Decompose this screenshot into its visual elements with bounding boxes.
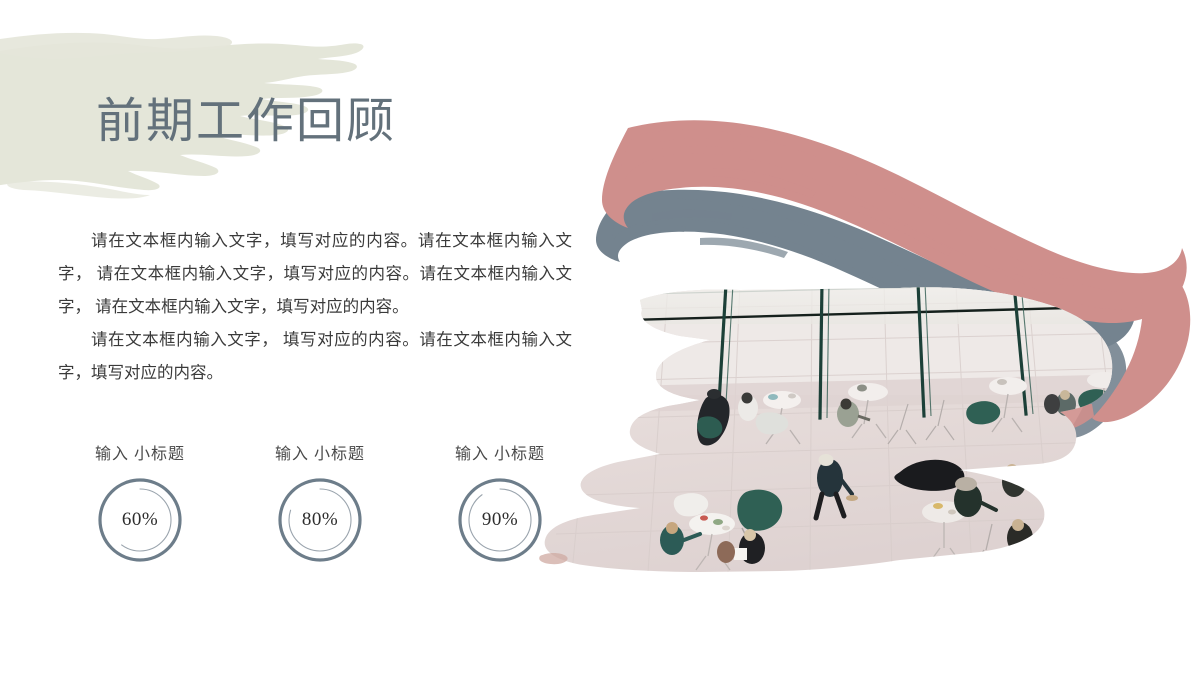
- stat-label-3: 输入 小标题: [420, 440, 580, 464]
- slide-canvas: 前期工作回顾 请在文本框内输入文字，填写对应的内容。请在文本框内输入文字， 请在…: [0, 0, 1200, 675]
- stat-item-2: 输入 小标题 80%: [240, 440, 400, 564]
- page-title: 前期工作回顾: [96, 98, 396, 146]
- gauge-value-2: 80%: [276, 476, 364, 564]
- body-paragraph-1: 请在文本框内输入文字，填写对应的内容。请在文本框内输入文字， 请在文本框内输入文…: [58, 224, 572, 323]
- gauge-value-1: 60%: [96, 476, 184, 564]
- cafe-terrace-aerial-photo: [540, 280, 1140, 580]
- stat-label-1: 输入 小标题: [60, 440, 220, 464]
- body-paragraph-2: 请在文本框内输入文字， 填写对应的内容。请在文本框内输入文字，填写对应的内容。: [58, 323, 572, 389]
- stat-label-2: 输入 小标题: [240, 440, 400, 464]
- body-copy: 请在文本框内输入文字，填写对应的内容。请在文本框内输入文字， 请在文本框内输入文…: [58, 224, 572, 389]
- progress-gauge-3: 90%: [456, 476, 544, 564]
- stats-row: 输入 小标题 60% 输入 小标题 80% 输入 小标题: [60, 440, 580, 570]
- slate-brush-stroke: [596, 190, 1135, 438]
- rose-brush-stroke: [602, 120, 1190, 430]
- gauge-value-3: 90%: [456, 476, 544, 564]
- stat-item-1: 输入 小标题 60%: [60, 440, 220, 564]
- progress-gauge-1: 60%: [96, 476, 184, 564]
- stat-item-3: 输入 小标题 90%: [420, 440, 580, 564]
- title-block: 前期工作回顾: [0, 30, 420, 190]
- progress-gauge-2: 80%: [276, 476, 364, 564]
